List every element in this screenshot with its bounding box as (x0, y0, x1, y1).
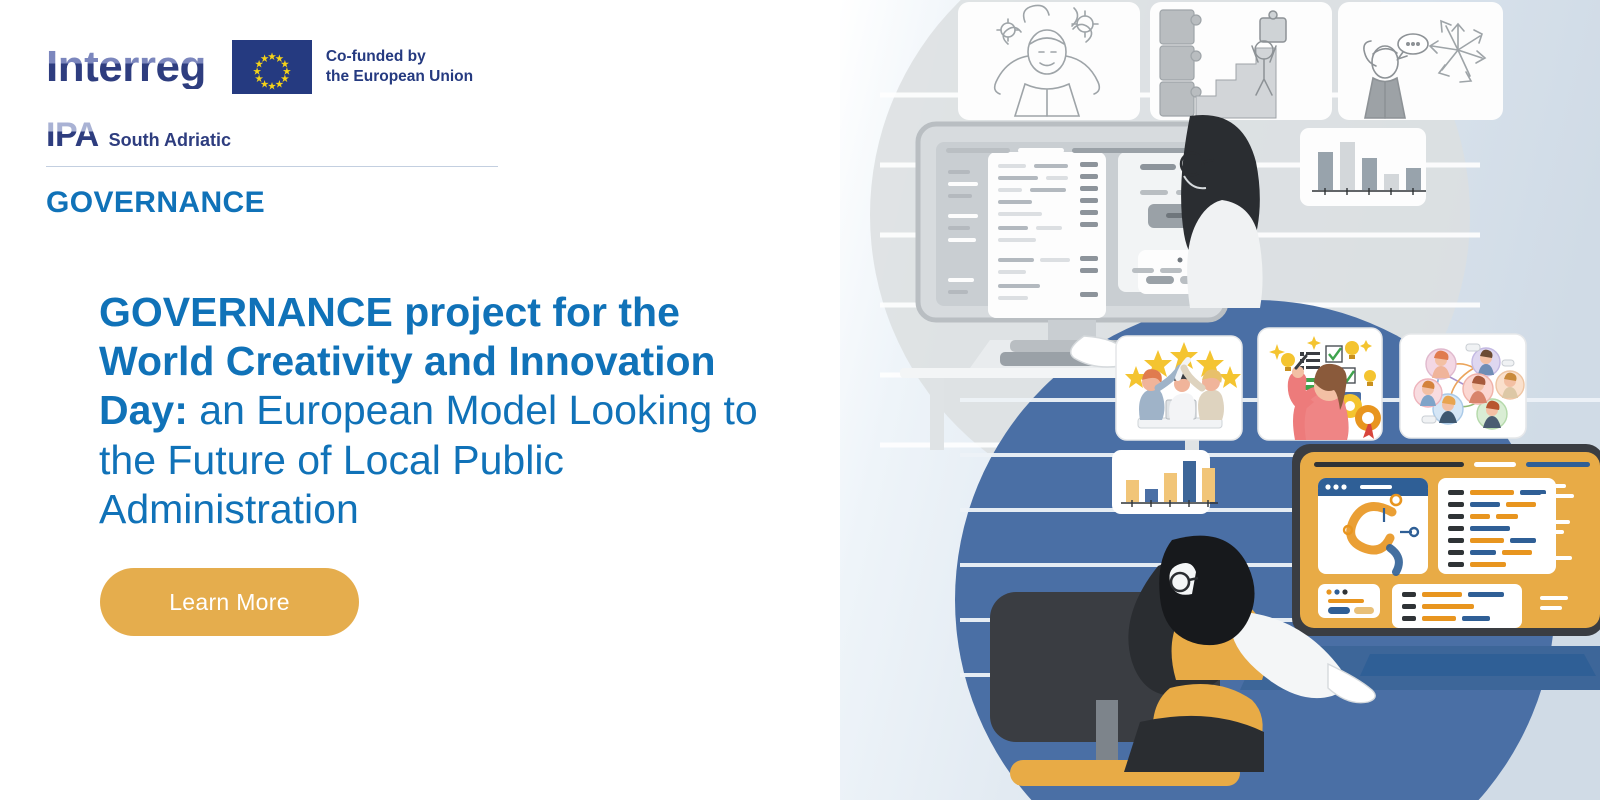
team-highfive-stars-card (1116, 336, 1242, 440)
people-network-card (1400, 334, 1526, 438)
eu-funding-emblem: Co-funded by the European Union (232, 40, 473, 94)
ipa-logo: IPA (46, 118, 99, 152)
learn-more-button[interactable]: Learn More (100, 568, 359, 636)
puzzle-stairs-card (1150, 2, 1332, 120)
header-divider (46, 166, 498, 167)
logo-row: Interreg (46, 40, 473, 94)
gold-bar-chart-card (1112, 450, 1218, 514)
hero-illustration (840, 0, 1600, 800)
ipa-subtitle: South Adriatic (109, 130, 231, 151)
confused-person-arrows-card (1338, 2, 1503, 120)
grey-bar-chart-card (1300, 128, 1426, 206)
woman-ideas-lightbulbs-card (1258, 328, 1382, 440)
interreg-logo: Interreg (46, 45, 206, 89)
eu-funding-text: Co-funded by the European Union (326, 47, 473, 88)
hero-content-column: Interreg (0, 0, 860, 800)
ipa-logo-row: IPA South Adriatic (46, 118, 231, 152)
illustration-svg (840, 0, 1600, 800)
stressed-person-card (958, 2, 1140, 120)
page-title: GOVERNANCE project for the World Creativ… (99, 288, 804, 534)
eu-flag-icon (232, 40, 312, 94)
programme-title: GOVERNANCE (46, 186, 265, 220)
headline-rest-part: an European Model Looking to the Future … (99, 387, 758, 531)
